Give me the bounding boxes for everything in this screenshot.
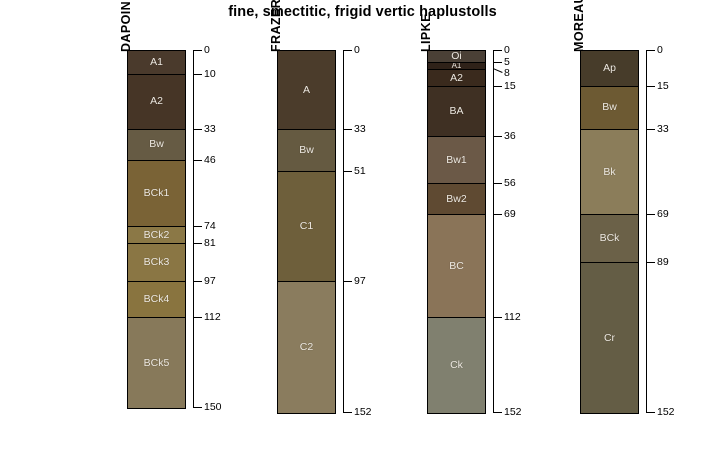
- depth-tick: [646, 50, 655, 51]
- soil-profile-moreau: MOREAUApBwBkBCkCr015336989152: [558, 0, 718, 450]
- horizon-segment[interactable]: BCk1: [128, 161, 185, 228]
- depth-tick-label: 33: [354, 124, 366, 135]
- horizon-segment[interactable]: A: [278, 51, 335, 130]
- horizon-segment[interactable]: BCk: [581, 215, 638, 263]
- depth-tick-label: 5: [504, 57, 510, 68]
- horizon-label: BCk1: [144, 188, 170, 199]
- horizon-label: BCk2: [144, 230, 170, 241]
- depth-tick: [343, 50, 352, 51]
- horizon-segment[interactable]: Bw: [278, 130, 335, 173]
- horizon-segment[interactable]: BCk2: [128, 227, 185, 244]
- depth-tick: [493, 136, 502, 137]
- depth-tick: [193, 243, 202, 244]
- depth-tick: [343, 171, 352, 172]
- horizon-label: BCk: [600, 233, 620, 244]
- depth-tick-label: 152: [504, 407, 522, 418]
- depth-tick: [343, 412, 352, 413]
- horizon-segment[interactable]: Cr: [581, 263, 638, 413]
- horizon-label: BCk3: [144, 257, 170, 268]
- depth-tick-label: 152: [657, 407, 675, 418]
- profile-column-lipke[interactable]: OiA1A2BABw1Bw2BCCk: [427, 50, 486, 414]
- depth-tick: [493, 50, 502, 51]
- depth-tick-label: 33: [204, 124, 216, 135]
- depth-tick-label: 69: [657, 209, 669, 220]
- depth-tick-label: 10: [204, 69, 216, 80]
- soil-profile-lipke: LIPKEOiA1A2BABw1Bw2BCCk05815365669112152: [405, 0, 565, 450]
- depth-tick: [193, 407, 202, 408]
- depth-tick-label: 0: [504, 45, 510, 56]
- horizon-segment[interactable]: Bw: [581, 87, 638, 130]
- depth-tick: [193, 281, 202, 282]
- depth-tick: [646, 86, 655, 87]
- depth-tick: [646, 214, 655, 215]
- depth-tick-label: 0: [657, 45, 663, 56]
- depth-tick-label: 97: [204, 276, 216, 287]
- depth-tick: [193, 129, 202, 130]
- horizon-label: Bw: [299, 145, 314, 156]
- depth-tick: [193, 50, 202, 51]
- depth-tick-label: 33: [657, 124, 669, 135]
- horizon-label: Bw2: [446, 194, 466, 205]
- depth-tick-label: 8: [504, 68, 510, 79]
- depth-tick-label: 112: [204, 312, 221, 323]
- depth-tick: [193, 160, 202, 161]
- horizon-label: C1: [300, 221, 313, 232]
- horizon-segment[interactable]: Ck: [428, 318, 485, 413]
- depth-tick-label: 51: [354, 166, 366, 177]
- horizon-label: A1: [452, 63, 462, 70]
- depth-tick: [493, 317, 502, 318]
- horizon-segment[interactable]: BC: [428, 215, 485, 317]
- horizon-segment[interactable]: C1: [278, 172, 335, 282]
- depth-tick-label: 15: [657, 81, 669, 92]
- depth-tick-label: 0: [204, 45, 210, 56]
- profile-label-frazer: FRAZER: [269, 0, 283, 52]
- horizon-label: Bw1: [446, 155, 466, 166]
- horizon-label: Ap: [603, 63, 616, 74]
- depth-tick: [493, 412, 502, 413]
- depth-tick: [343, 281, 352, 282]
- horizon-label: Cr: [604, 333, 615, 344]
- horizon-segment[interactable]: Bw2: [428, 184, 485, 215]
- horizon-segment[interactable]: Ap: [581, 51, 638, 87]
- horizon-label: A1: [150, 57, 163, 68]
- horizon-segment[interactable]: Bk: [581, 130, 638, 216]
- horizon-label: A: [303, 85, 310, 96]
- depth-tick: [193, 74, 202, 75]
- depth-tick-label: 46: [204, 155, 216, 166]
- profile-label-dapoin: DAPOIN: [119, 1, 133, 52]
- depth-axis-line: [193, 50, 194, 407]
- horizon-label: Oi: [451, 51, 462, 62]
- profile-column-frazer[interactable]: ABwC1C2: [277, 50, 336, 414]
- horizon-label: Bw: [149, 139, 164, 150]
- depth-tick: [493, 86, 502, 87]
- depth-tick: [343, 129, 352, 130]
- depth-axis-line: [343, 50, 344, 412]
- profile-label-lipke: LIPKE: [419, 13, 433, 52]
- horizon-label: A2: [450, 73, 463, 84]
- horizon-label: BCk4: [144, 294, 170, 305]
- horizon-segment[interactable]: A2: [128, 75, 185, 130]
- horizon-label: BCk5: [144, 358, 170, 369]
- depth-tick: [493, 214, 502, 215]
- depth-tick: [646, 129, 655, 130]
- depth-axis-line: [646, 50, 647, 412]
- depth-tick: [493, 62, 502, 63]
- depth-tick-label: 150: [204, 402, 222, 413]
- depth-tick-label: 36: [504, 131, 516, 142]
- horizon-segment[interactable]: C2: [278, 282, 335, 413]
- horizon-segment[interactable]: BCk4: [128, 282, 185, 318]
- horizon-segment[interactable]: BCk3: [128, 244, 185, 282]
- depth-tick-label: 0: [354, 45, 360, 56]
- horizon-segment[interactable]: Oi: [428, 51, 485, 63]
- depth-tick-label: 74: [204, 221, 216, 232]
- horizon-label: BA: [449, 106, 463, 117]
- depth-tick-label: 97: [354, 276, 366, 287]
- depth-tick: [193, 317, 202, 318]
- depth-tick-leader: [493, 68, 502, 73]
- horizon-segment[interactable]: Bw1: [428, 137, 485, 185]
- soil-profile-frazer: FRAZERABwC1C20335197152: [255, 0, 415, 450]
- horizon-segment[interactable]: A1: [128, 51, 185, 75]
- horizon-label: C2: [300, 342, 313, 353]
- horizon-label: Bw: [602, 102, 617, 113]
- depth-tick-label: 81: [204, 238, 216, 249]
- depth-tick: [646, 412, 655, 413]
- horizon-segment[interactable]: BCk5: [128, 318, 185, 409]
- profile-label-moreau: MOREAU: [572, 0, 586, 52]
- horizon-label: Ck: [450, 360, 463, 371]
- depth-tick: [493, 183, 502, 184]
- depth-tick-label: 69: [504, 209, 516, 220]
- horizon-segment[interactable]: BA: [428, 87, 485, 137]
- depth-tick-label: 56: [504, 178, 516, 189]
- profile-column-dapoin[interactable]: A1A2BwBCk1BCk2BCk3BCk4BCk5: [127, 50, 186, 409]
- depth-axis-line: [493, 50, 494, 412]
- horizon-segment[interactable]: Bw: [128, 130, 185, 161]
- depth-tick-label: 15: [504, 81, 516, 92]
- depth-tick-label: 152: [354, 407, 372, 418]
- profile-column-moreau[interactable]: ApBwBkBCkCr: [580, 50, 639, 414]
- horizon-label: A2: [150, 96, 163, 107]
- horizon-label: Bk: [603, 167, 615, 178]
- horizon-label: BC: [449, 261, 464, 272]
- soil-profile-dapoin: DAPOINA1A2BwBCk1BCk2BCk3BCk4BCk501033467…: [105, 0, 265, 450]
- depth-tick: [193, 226, 202, 227]
- depth-tick-label: 112: [504, 312, 521, 323]
- horizon-segment[interactable]: A1: [428, 63, 485, 70]
- depth-tick-label: 89: [657, 257, 669, 268]
- depth-tick: [646, 262, 655, 263]
- horizon-segment[interactable]: A2: [428, 70, 485, 87]
